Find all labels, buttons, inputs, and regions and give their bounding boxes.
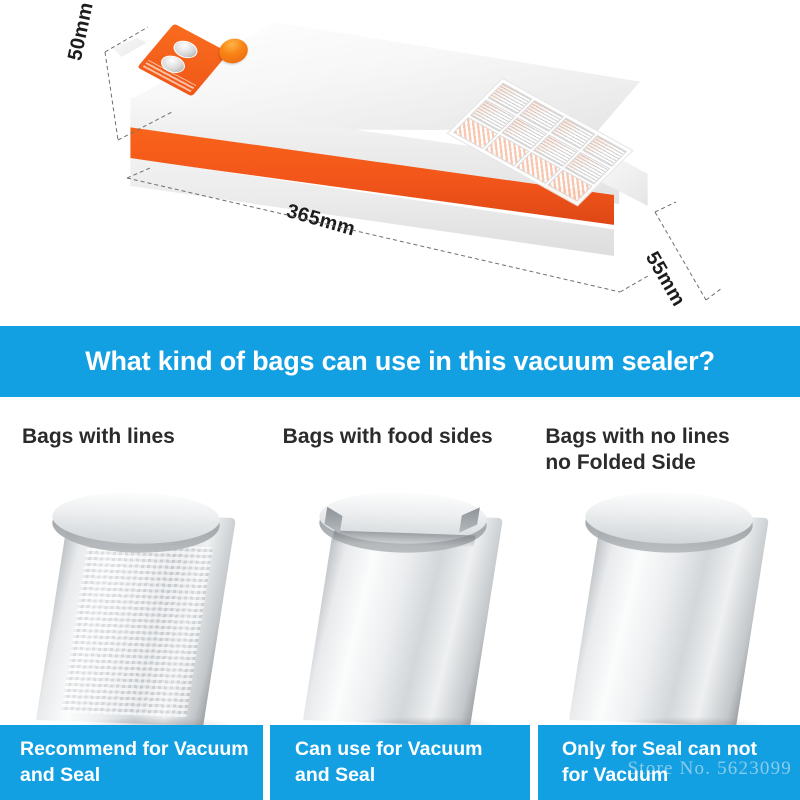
bag-illustration-lines	[0, 483, 267, 721]
column-bags-with-food-sides: Bags with food sides	[267, 397, 534, 725]
column-title-line-1: Bags with no lines	[545, 425, 729, 448]
dimension-label-height: 50mm	[64, 0, 99, 63]
column-title: Bags with lines	[0, 424, 267, 450]
caption-text: Recommend for Vacuum and Seal	[0, 737, 249, 788]
caption-line-1: Only for Seal can not	[562, 738, 757, 760]
caption-box-can-use: Can use for Vacuum and Seal	[270, 725, 530, 800]
caption-text: Can use for Vacuum and Seal	[270, 737, 482, 788]
caption-line-2: and Seal	[295, 764, 375, 786]
column-title: Bags with no lines no Folded Side	[533, 424, 800, 475]
bag-embossed-lines-texture	[61, 543, 213, 717]
bag-illustration-food-sides	[267, 483, 534, 721]
column-title-line-2: no Folded Side	[545, 451, 696, 474]
column-bags-with-no-lines: Bags with no lines no Folded Side	[533, 397, 800, 725]
caption-line-1: Recommend for Vacuum	[20, 738, 249, 760]
caption-box-only-seal: Only for Seal can not for Vacuum	[538, 725, 800, 800]
caption-line-2: for Vacuum	[562, 764, 668, 786]
vacuum-sealer-device	[120, 12, 650, 262]
caption-box-recommend: Recommend for Vacuum and Seal	[0, 725, 263, 800]
caption-line-2: and Seal	[20, 764, 100, 786]
caption-row: Recommend for Vacuum and Seal Can use fo…	[0, 725, 800, 800]
caption-text: Only for Seal can not for Vacuum	[538, 737, 757, 788]
bag-illustration-plain	[533, 483, 800, 721]
dimension-label-depth: 55mm	[640, 248, 689, 311]
headline-banner: What kind of bags can use in this vacuum…	[0, 326, 800, 397]
column-title: Bags with food sides	[267, 424, 534, 450]
product-image: 50mm 365mm 55mm	[0, 0, 800, 326]
product-hero-section: 50mm 365mm 55mm	[0, 0, 800, 326]
caption-line-1: Can use for Vacuum	[295, 738, 482, 760]
headline-title: What kind of bags can use in this vacuum…	[85, 346, 715, 377]
column-bags-with-lines: Bags with lines	[0, 397, 267, 725]
bag-type-columns: Bags with lines Bags with food sides	[0, 397, 800, 725]
